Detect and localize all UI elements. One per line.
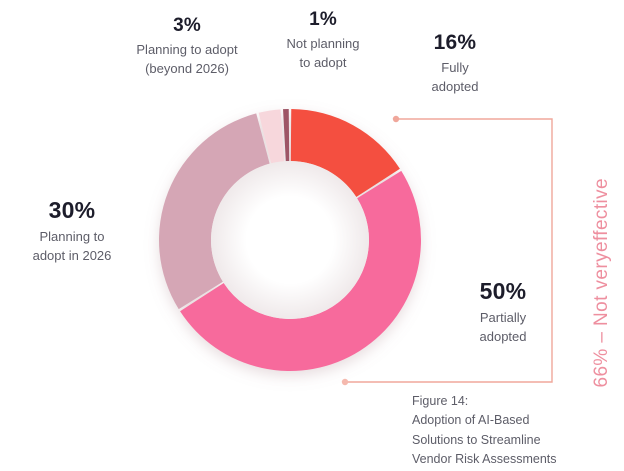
- caption-line-1: Figure 14:: [412, 392, 618, 411]
- slice-percent: 30%: [2, 196, 142, 225]
- slice-label-partially-adopted: 50% Partially adopted: [437, 277, 569, 346]
- slice-percent: 3%: [112, 14, 262, 38]
- slice-label-planning-to-adopt-2026: 30% Planning to adopt in 2026: [2, 196, 142, 265]
- slice-percent: 1%: [264, 8, 382, 32]
- donut-svg: [155, 105, 425, 375]
- slice-description: Planning to adopt in 2026: [2, 228, 142, 266]
- bracket-endpoint-bottom: [342, 379, 348, 385]
- caption-line-2: Adoption of AI-Based: [412, 411, 618, 430]
- donut-hole: [211, 161, 369, 319]
- donut-slice[interactable]: [283, 109, 289, 161]
- chart-canvas: 3% Planning to adopt (beyond 2026) 1% No…: [0, 0, 624, 471]
- slice-description: Fully adopted: [396, 59, 514, 97]
- slice-percent: 16%: [396, 30, 514, 56]
- figure-caption: Figure 14: Adoption of AI-Based Solution…: [412, 392, 618, 470]
- side-annotation: 66% – Not veryeffective: [584, 88, 620, 388]
- side-annotation-text: 66% – Not veryeffective: [591, 178, 613, 388]
- slice-percent: 50%: [437, 277, 569, 306]
- slice-label-fully-adopted: 16% Fully adopted: [396, 30, 514, 97]
- slice-label-not-planning-to-adopt: 1% Not planning to adopt: [264, 8, 382, 72]
- caption-line-4: Vendor Risk Assessments: [412, 450, 618, 469]
- caption-line-3: Solutions to Streamline: [412, 431, 618, 450]
- slice-description: Planning to adopt (beyond 2026): [112, 41, 262, 79]
- donut-chart: [155, 105, 425, 375]
- slice-label-planning-beyond-2026: 3% Planning to adopt (beyond 2026): [112, 14, 262, 78]
- slice-description: Not planning to adopt: [264, 35, 382, 73]
- slice-description: Partially adopted: [437, 309, 569, 347]
